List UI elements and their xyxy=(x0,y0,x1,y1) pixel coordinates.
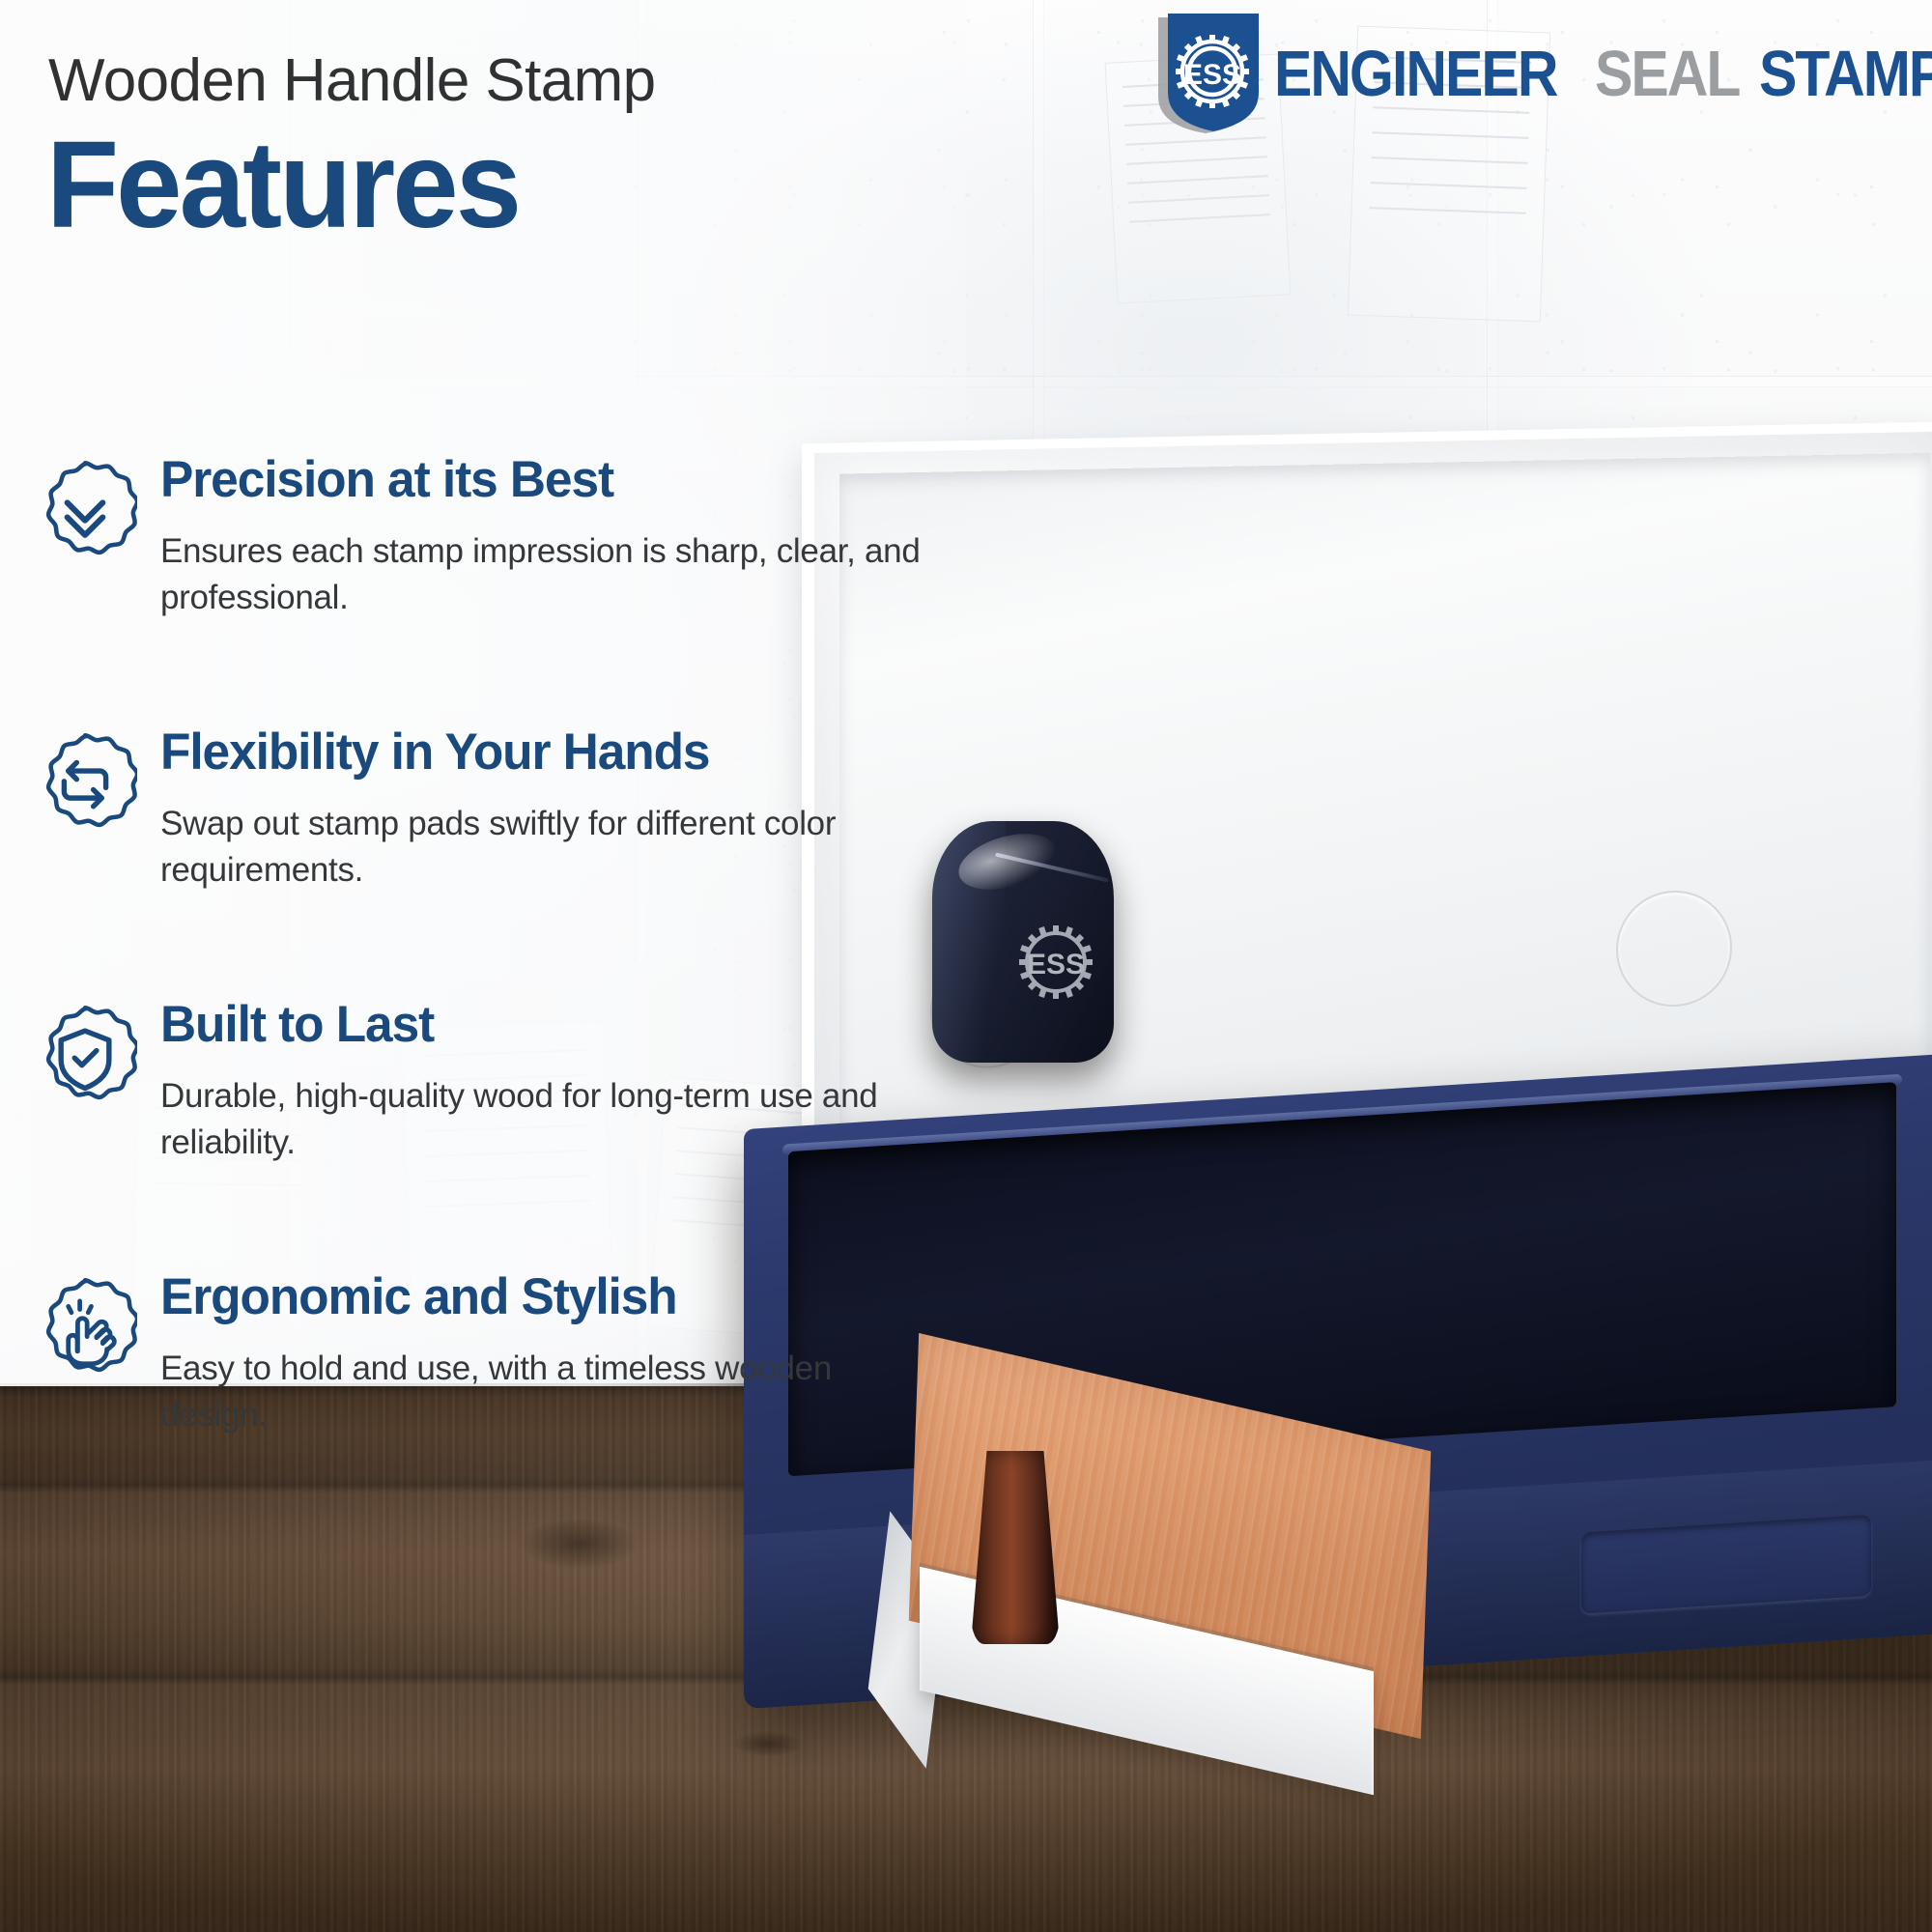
feature-description: Swap out stamp pads swiftly for differen… xyxy=(160,801,933,895)
swap-arrows-badge-icon xyxy=(33,731,137,836)
feature-item-durability: Built to Last Durable, high-quality wood… xyxy=(33,998,999,1257)
knob-logo-text: ESS xyxy=(1027,949,1085,980)
logo-word-seal: SEAL xyxy=(1595,42,1740,106)
pointing-hand-badge-icon xyxy=(33,1276,137,1380)
feature-title: Ergonomic and Stylish xyxy=(160,1270,974,1324)
knob-ess-gear-logo-icon: ESS xyxy=(1008,914,1104,1010)
ess-shield-gear-icon: ESS xyxy=(1145,12,1268,135)
feature-item-precision: Precision at its Best Ensures each stamp… xyxy=(33,453,999,712)
chevron-double-down-badge-icon xyxy=(33,459,137,563)
logo-word-stamps: STAMPS xyxy=(1759,42,1932,106)
feature-list: Precision at its Best Ensures each stamp… xyxy=(33,440,999,1529)
logo-badge-text: ESS xyxy=(1183,59,1241,91)
feature-title: Precision at its Best xyxy=(160,453,974,507)
page-title: Features xyxy=(46,124,519,247)
feature-title: Built to Last xyxy=(160,998,974,1052)
page-kicker: Wooden Handle Stamp xyxy=(48,46,656,115)
shield-check-badge-icon xyxy=(33,1004,137,1108)
feature-item-flexibility: Flexibility in Your Hands Swap out stamp… xyxy=(33,725,999,984)
feature-description: Easy to hold and use, with a timeless wo… xyxy=(160,1346,933,1439)
feature-description: Durable, high-quality wood for long-term… xyxy=(160,1073,933,1167)
site-logo[interactable]: ESS ENGINEER SEAL STAMPS .COM xyxy=(1145,12,1932,135)
feature-item-ergonomics: Ergonomic and Stylish Easy to hold and u… xyxy=(33,1270,999,1529)
logo-word-engineer: ENGINEER xyxy=(1274,42,1556,106)
feature-description: Ensures each stamp impression is sharp, … xyxy=(160,528,933,622)
logo-wordmark: ENGINEER SEAL STAMPS .COM xyxy=(1274,42,1932,106)
feature-title: Flexibility in Your Hands xyxy=(160,725,974,780)
